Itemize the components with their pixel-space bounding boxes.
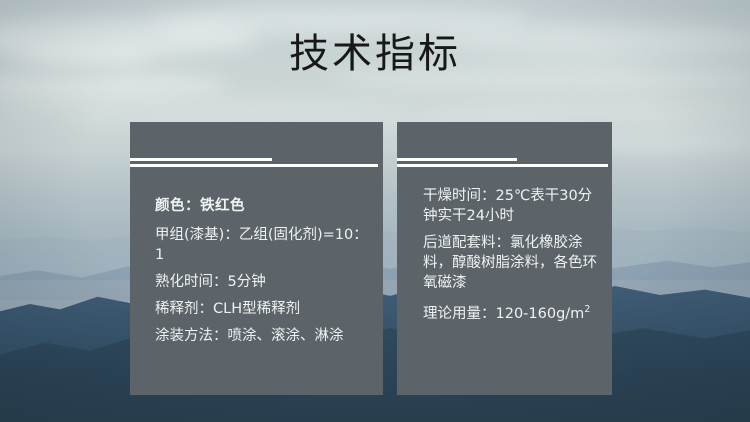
- spec-line-curing-time: 熟化时间：5分钟: [155, 272, 373, 292]
- left-spec-panel: 颜色：铁红色 甲组(漆基)：乙组(固化剂)=10：1 熟化时间：5分钟 稀释剂：…: [130, 122, 383, 395]
- page-title: 技术指标: [0, 30, 750, 78]
- spec-line-color: 颜色：铁红色: [155, 196, 373, 216]
- panel-rule-long: [130, 164, 378, 167]
- usage-text: 理论用量：120-160g/m: [423, 306, 584, 322]
- spec-line-thinner: 稀释剂：CLH型稀释剂: [155, 299, 373, 319]
- panel-rule-long: [397, 164, 608, 167]
- slide: 技术指标 颜色：铁红色 甲组(漆基)：乙组(固化剂)=10：1 熟化时间：5分钟…: [0, 0, 750, 422]
- spec-line-theoretical-usage: 理论用量：120-160g/m2: [423, 300, 604, 324]
- spec-line-mix-ratio: 甲组(漆基)：乙组(固化剂)=10：1: [155, 225, 373, 265]
- spec-line-drying-time: 干燥时间：25℃表干30分钟实干24小时: [423, 186, 604, 226]
- panel-rule-short: [397, 158, 517, 161]
- spec-line-coating-method: 涂装方法：喷涂、滚涂、淋涂: [155, 326, 373, 346]
- right-spec-panel: 干燥时间：25℃表干30分钟实干24小时 后道配套料：氯化橡胶涂料，醇酸树脂涂料…: [397, 122, 612, 395]
- right-panel-body: 干燥时间：25℃表干30分钟实干24小时 后道配套料：氯化橡胶涂料，醇酸树脂涂料…: [423, 186, 604, 331]
- left-panel-body: 颜色：铁红色 甲组(漆基)：乙组(固化剂)=10：1 熟化时间：5分钟 稀释剂：…: [155, 196, 373, 353]
- usage-superscript: 2: [584, 304, 590, 315]
- spec-line-topcoat: 后道配套料：氯化橡胶涂料，醇酸树脂涂料，各色环氧磁漆: [423, 233, 604, 293]
- panel-rule-short: [130, 158, 272, 161]
